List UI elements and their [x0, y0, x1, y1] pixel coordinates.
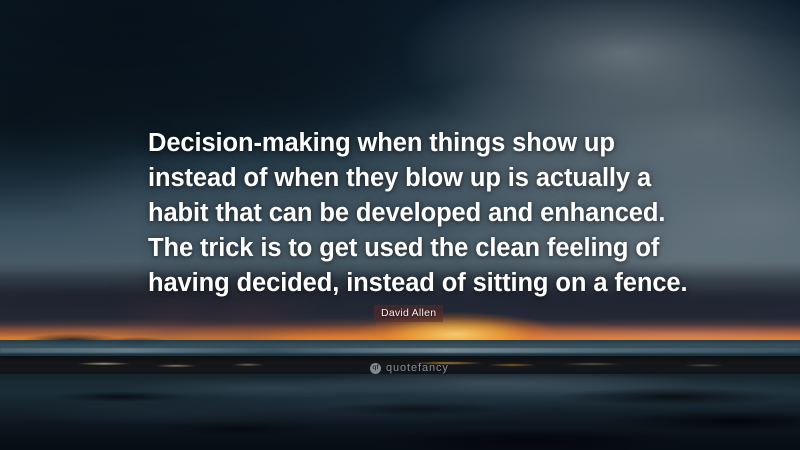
- quote-line: The trick is to get used the clean feeli…: [148, 231, 660, 266]
- author-attribution: David Allen: [374, 305, 443, 322]
- tidal-flats-debris: [0, 374, 800, 450]
- quote-line: instead of when they blow up is actually…: [148, 161, 660, 196]
- quote-line: having decided, instead of sitting on a …: [148, 266, 660, 301]
- quote-text-block: Decision-making when things show up inst…: [148, 126, 660, 301]
- watermark-label: quotefancy: [386, 362, 449, 374]
- quote-line: Decision-making when things show up: [148, 126, 660, 161]
- surf-line: [0, 348, 800, 353]
- quotefancy-logo-icon: qf: [370, 363, 381, 374]
- quote-poster: Decision-making when things show up inst…: [0, 0, 800, 450]
- quote-line: habit that can be developed and enhanced…: [148, 196, 660, 231]
- watermark: qf quotefancy: [370, 362, 449, 374]
